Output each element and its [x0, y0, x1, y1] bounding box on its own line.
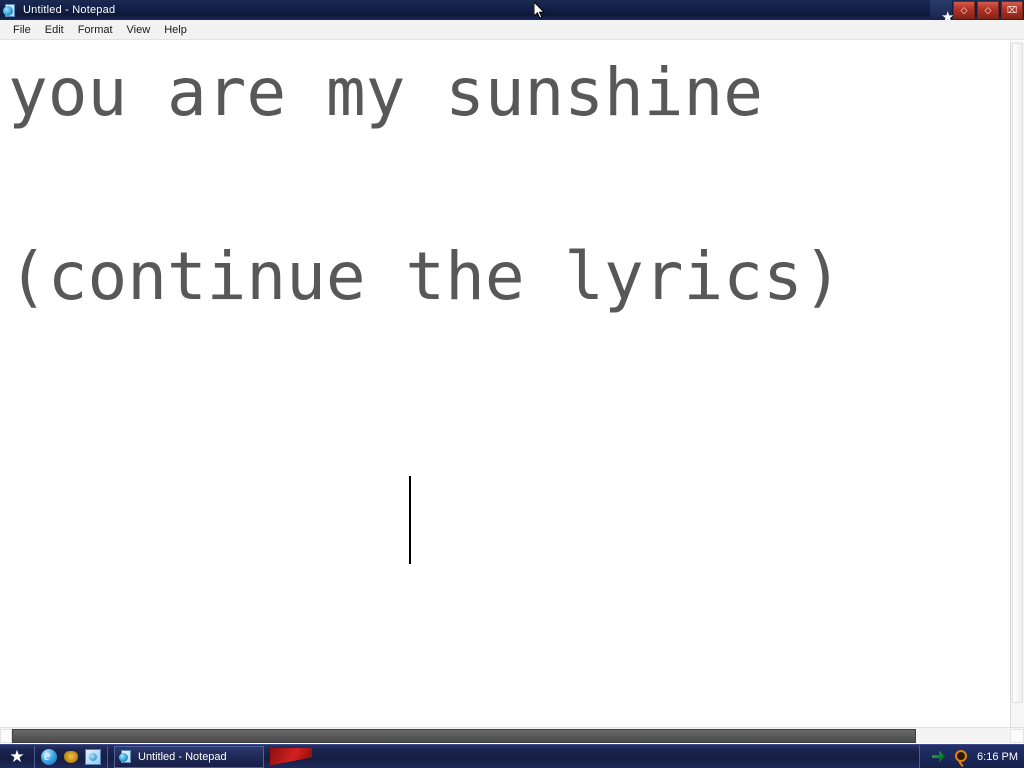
window-titlebar[interactable]: Untitled - Notepad ★ ◇ ◇ ⌧ [0, 0, 1024, 20]
internet-explorer-icon[interactable] [40, 748, 58, 766]
horizontal-scrollbar[interactable] [0, 727, 1024, 743]
start-star-icon: ★ [9, 748, 24, 765]
vertical-scrollbar-thumb[interactable] [1012, 43, 1023, 703]
start-button[interactable]: ★ [0, 746, 34, 768]
menu-item-format[interactable]: Format [71, 22, 120, 38]
maximize-button[interactable]: ◇ [977, 1, 999, 19]
menu-item-edit[interactable]: Edit [38, 22, 71, 38]
horizontal-scrollbar-thumb[interactable] [12, 729, 916, 743]
pin-star-icon[interactable]: ★ [930, 0, 952, 20]
taskbar-item-notepad[interactable]: Untitled - Notepad [114, 746, 264, 768]
taskbar: ★ Untitled - Notepad 6:16 PM [0, 744, 1024, 768]
vertical-scrollbar[interactable] [1010, 41, 1024, 727]
menu-item-view[interactable]: View [120, 22, 158, 38]
menu-item-help[interactable]: Help [157, 22, 194, 38]
close-button[interactable]: ⌧ [1001, 1, 1023, 19]
tray-clock[interactable]: 6:16 PM [977, 751, 1018, 763]
red-swoosh-decoration [270, 748, 312, 766]
document-text: you are my sunshine (continue the lyrics… [8, 47, 1010, 323]
screen: Untitled - Notepad ★ ◇ ◇ ⌧ File Edit For… [0, 0, 1024, 768]
menu-bar: File Edit Format View Help [0, 20, 1024, 40]
scroll-left-arrow[interactable] [0, 729, 12, 743]
notepad-icon-small [119, 750, 133, 764]
quick-launch-bar [34, 746, 108, 768]
system-tray: 6:16 PM [919, 745, 1024, 768]
window-title: Untitled - Notepad [23, 0, 115, 20]
network-icon[interactable] [931, 749, 947, 765]
minimize-button[interactable]: ◇ [953, 1, 975, 19]
window-controls: ★ ◇ ◇ ⌧ [930, 0, 1024, 20]
scroll-right-arrow[interactable] [1010, 729, 1024, 743]
search-icon[interactable] [953, 749, 969, 765]
media-bug-icon[interactable] [62, 748, 80, 766]
notepad-icon [3, 3, 18, 18]
taskbar-item-label: Untitled - Notepad [138, 751, 227, 763]
text-editor-area[interactable]: you are my sunshine (continue the lyrics… [0, 41, 1010, 727]
browser-swirl-icon[interactable] [84, 748, 102, 766]
menu-item-file[interactable]: File [6, 22, 38, 38]
text-caret [409, 476, 411, 564]
task-button-list: Untitled - Notepad [114, 745, 312, 768]
